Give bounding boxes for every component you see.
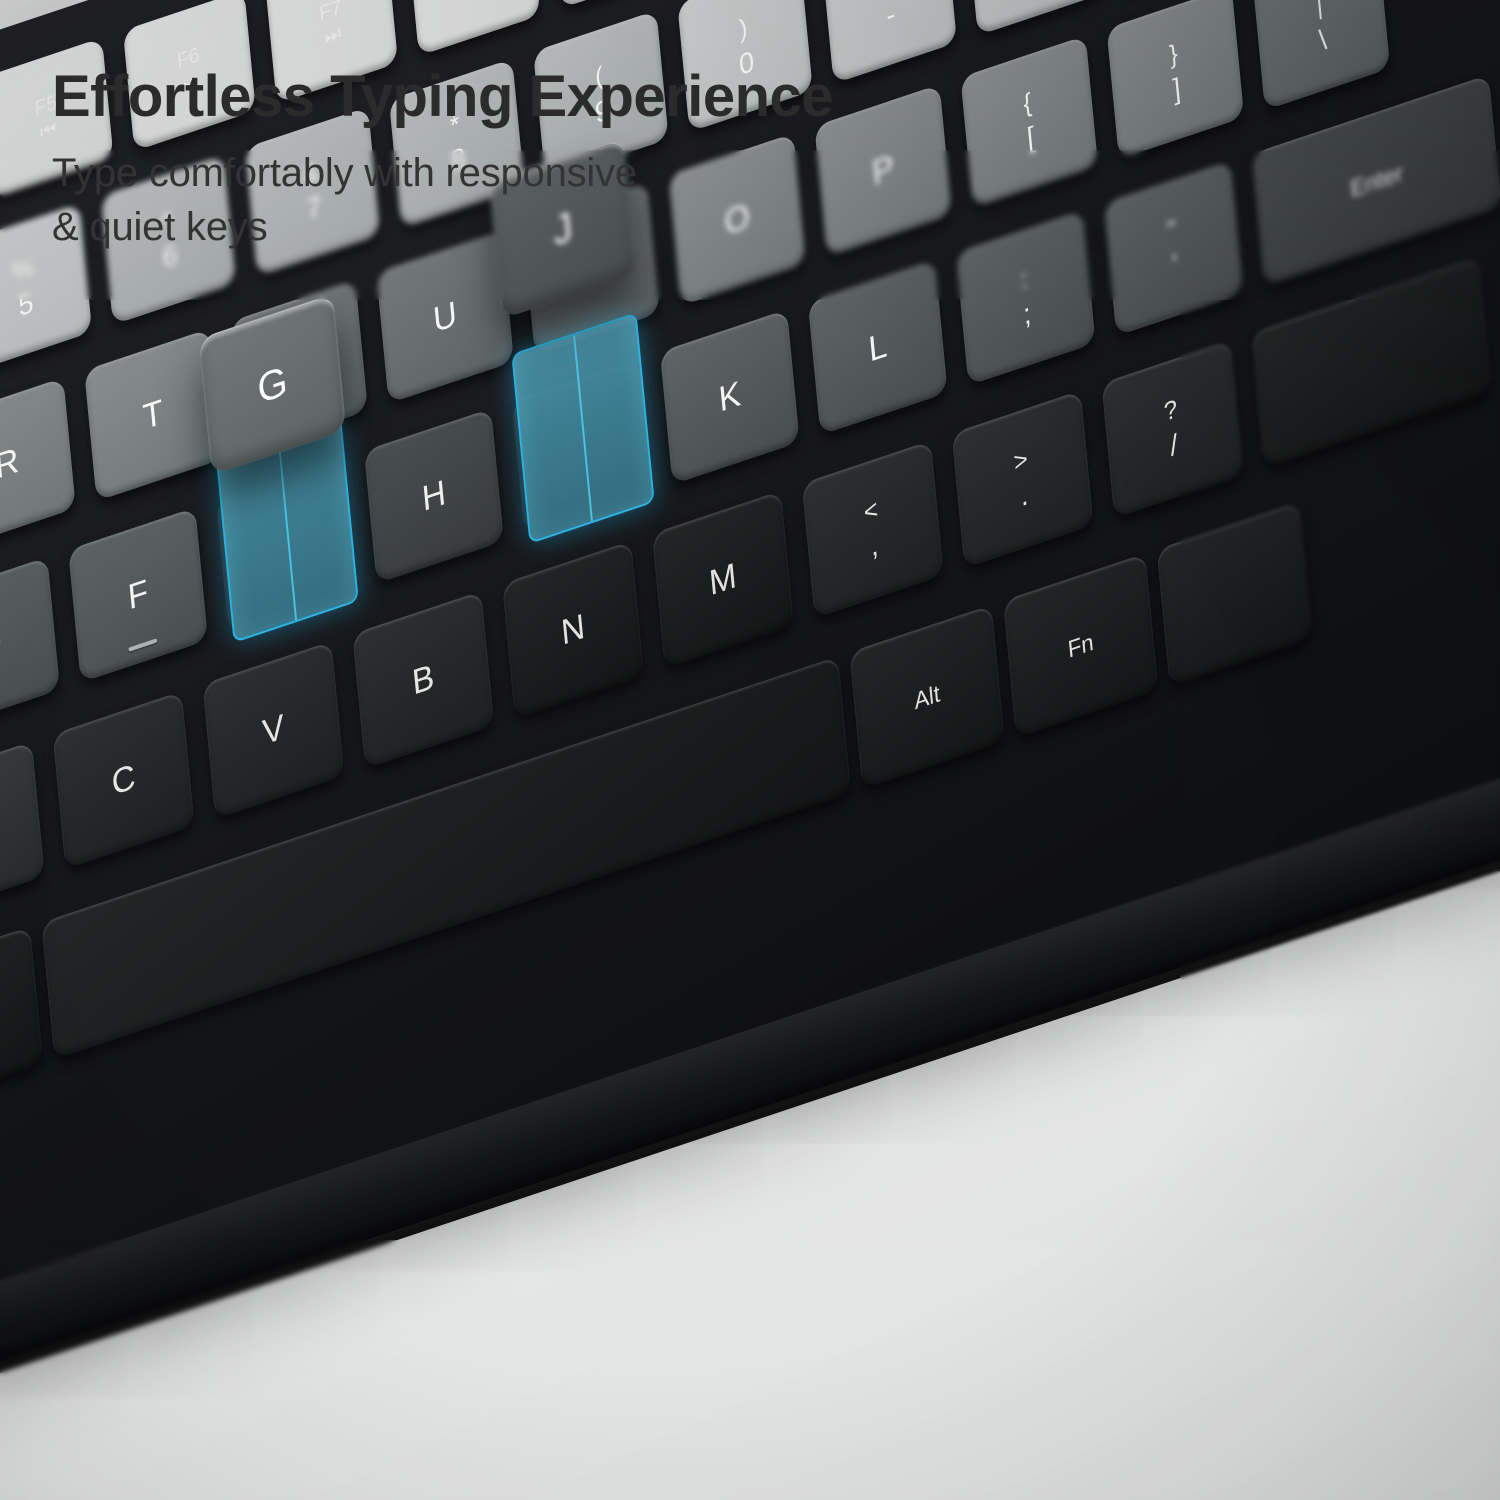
key-h[interactable]: H	[364, 408, 504, 583]
key-label: ;	[1022, 299, 1032, 330]
key-bracket-right[interactable]: } ]	[1106, 0, 1244, 159]
key-period[interactable]: > .	[952, 390, 1094, 568]
key-alt-left[interactable]: Alt	[0, 926, 43, 1110]
key-b[interactable]: B	[352, 591, 494, 769]
key-label: M	[708, 558, 738, 602]
marketing-copy: Effortless Typing Experience Type comfor…	[52, 66, 833, 255]
key-label: N	[560, 608, 587, 651]
key-shift-label: >	[1013, 446, 1029, 476]
subheadline: Type comfortably with responsive & quiet…	[52, 147, 833, 254]
key-r[interactable]: R	[0, 377, 76, 550]
key-label: C	[110, 759, 137, 802]
key-shift-label: %	[11, 254, 35, 287]
key-f9[interactable]: F9 ⚲	[550, 0, 683, 8]
key-x[interactable]: X	[0, 741, 45, 919]
key-label: /	[1169, 430, 1179, 461]
key-label: H	[421, 475, 448, 518]
key-label: [	[1026, 123, 1036, 154]
key-label: ]	[1172, 74, 1182, 105]
key-fn[interactable]: Fn	[1003, 553, 1158, 737]
key-shift-label: )	[738, 15, 748, 43]
headline: Effortless Typing Experience	[52, 66, 833, 127]
key-label: .	[1019, 480, 1029, 511]
key-k[interactable]: K	[660, 309, 800, 484]
key-label: R	[0, 443, 20, 486]
key-label: F7	[318, 0, 342, 25]
subheadline-line-1: Type comfortably with responsive	[52, 147, 833, 201]
key-alt-right[interactable]: Alt	[849, 605, 1004, 789]
key-label: B	[411, 659, 436, 701]
key-bracket-left[interactable]: { [	[960, 35, 1098, 208]
key-label: K	[717, 376, 742, 418]
key-shift-label: :	[1019, 266, 1028, 294]
key-u[interactable]: U	[376, 231, 514, 404]
key-label: V	[261, 709, 286, 751]
key-shift-label: }	[1168, 41, 1178, 69]
key-label: L	[867, 327, 888, 368]
key-n[interactable]: N	[502, 541, 644, 719]
key-c[interactable]: C	[53, 691, 195, 869]
key-shift-label: {	[1022, 90, 1032, 118]
key-label: Alt	[913, 681, 941, 713]
key-f[interactable]: F	[68, 507, 208, 682]
key-label: \	[1318, 25, 1328, 56]
key-l[interactable]: L	[808, 260, 948, 435]
subheadline-line-2: & quiet keys	[52, 201, 833, 255]
key-slash[interactable]: ? /	[1101, 340, 1243, 518]
key-label: 5	[17, 288, 35, 322]
key-p[interactable]: P	[814, 84, 952, 257]
key-label: D	[0, 623, 3, 666]
key-label: P	[871, 150, 896, 192]
key-shift-right[interactable]	[1251, 257, 1492, 468]
key-f8[interactable]: F8 ■	[407, 0, 540, 56]
key-shift-label: ?	[1163, 396, 1179, 426]
key-label: Fn	[1067, 629, 1095, 661]
key-v[interactable]: V	[202, 641, 344, 819]
homing-bar-icon	[128, 638, 157, 652]
key-label: G	[256, 358, 290, 414]
key-backslash[interactable]: | \	[1252, 0, 1390, 110]
key-label: T	[141, 394, 164, 435]
key-label: ,	[869, 530, 879, 561]
key-label: U	[432, 296, 459, 339]
key-label: -	[885, 0, 897, 31]
key-shift-label: <	[863, 496, 879, 526]
key-ctrl-right[interactable]	[1157, 502, 1312, 686]
key-enter[interactable]: Enter	[1252, 75, 1500, 287]
key-label: F	[126, 574, 149, 615]
switch-column-j	[511, 312, 654, 544]
next-track-icon: ⏭	[324, 23, 342, 48]
key-shift-label: |	[1315, 0, 1324, 20]
key-d[interactable]: D	[0, 557, 60, 732]
key-quote[interactable]: " '	[1104, 161, 1244, 336]
key-equals[interactable]: + =	[965, 0, 1101, 36]
key-label: Enter	[1349, 160, 1403, 201]
key-semicolon[interactable]: : ;	[956, 210, 1096, 385]
product-marketing-image: F4 ⛅ F5 ⏮ F6 ⏯ F7 ⏭ F8 ■ F9 ⚲	[0, 0, 1500, 1500]
key-shift-label: "	[1166, 216, 1177, 244]
key-comma[interactable]: < ,	[802, 440, 944, 618]
key-m[interactable]: M	[652, 491, 794, 669]
key-label: '	[1171, 250, 1179, 280]
key-minus[interactable]: _ -	[821, 0, 957, 84]
